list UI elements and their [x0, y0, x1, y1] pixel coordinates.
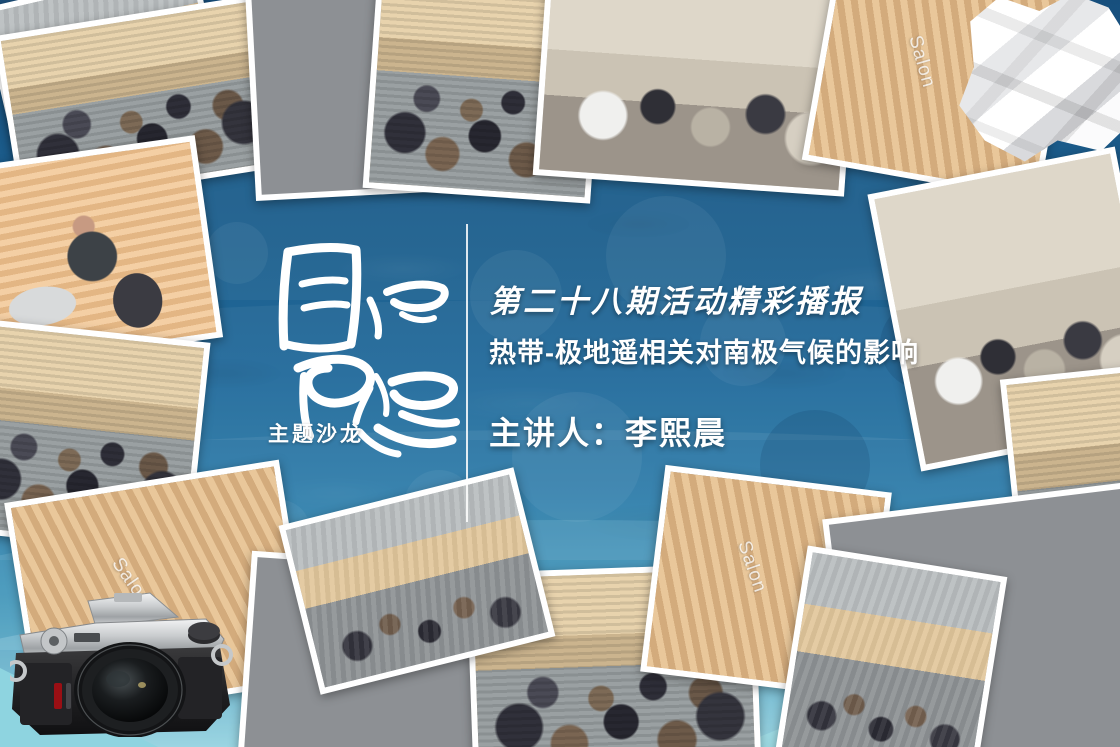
vintage-camera-decor [10, 587, 256, 737]
vertical-divider [466, 224, 468, 522]
photo-top-right-small-group-discussion [533, 0, 860, 197]
photo-bottom-right-salon-overview [775, 546, 1008, 747]
salon-wall-label-3: Salon [732, 539, 770, 597]
brand-subtitle: 主题沙龙 [268, 418, 364, 448]
subtitle-text: 热带-极地遥相关对南极气候的影响 [489, 331, 919, 370]
salon-wall-label: Salon [904, 34, 940, 92]
speaker-text: 主讲人：李熙晨 [489, 408, 727, 454]
headline-text: 第二十八期活动精彩播报 [489, 276, 863, 321]
poster-canvas: Salon Salon Salon [0, 0, 1120, 747]
